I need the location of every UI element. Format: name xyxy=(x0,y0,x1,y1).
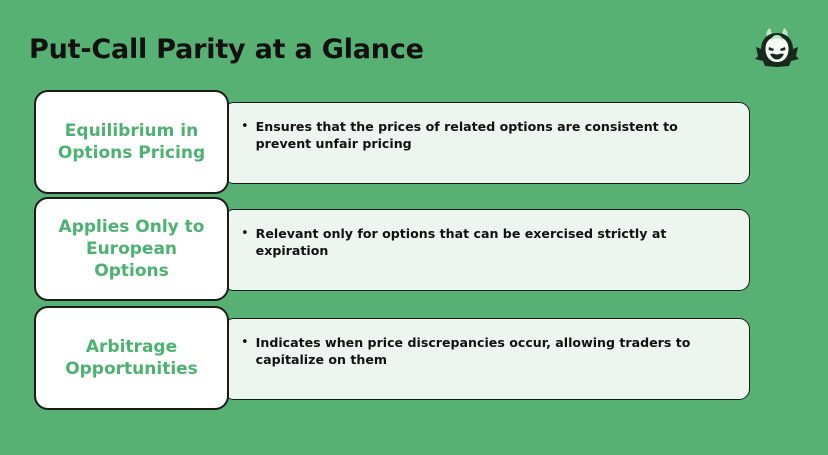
card-title-label: Arbitrage Opportunities xyxy=(46,336,217,380)
bullet-text: Ensures that the prices of related optio… xyxy=(256,118,735,152)
list-item: • Ensures that the prices of related opt… xyxy=(0,90,828,194)
samurai-mask-logo-icon xyxy=(753,26,801,72)
bullet-text: Indicates when price discrepancies occur… xyxy=(256,334,735,368)
bullet-icon: • xyxy=(241,225,249,242)
list-item: • Indicates when price discrepancies occ… xyxy=(0,306,828,410)
card-title-box[interactable]: Applies Only to European Options xyxy=(34,197,229,301)
list-item: • Relevant only for options that can be … xyxy=(0,197,828,301)
bullet-text: Relevant only for options that can be ex… xyxy=(256,225,735,259)
bullet-row: • Indicates when price discrepancies occ… xyxy=(241,334,735,368)
bullet-icon: • xyxy=(241,118,249,135)
card-title-label: Applies Only to European Options xyxy=(46,216,217,282)
card-title-box[interactable]: Equilibrium in Options Pricing xyxy=(34,90,229,194)
card-description-panel: • Indicates when price discrepancies occ… xyxy=(223,318,750,400)
card-title-box[interactable]: Arbitrage Opportunities xyxy=(34,306,229,410)
card-title-label: Equilibrium in Options Pricing xyxy=(46,120,217,164)
page-title: Put-Call Parity at a Glance xyxy=(29,34,424,65)
slide-canvas: Put-Call Parity at a Glance • Ensures th… xyxy=(0,0,828,455)
bullet-row: • Ensures that the prices of related opt… xyxy=(241,118,735,152)
card-description-panel: • Ensures that the prices of related opt… xyxy=(223,102,750,184)
bullet-icon: • xyxy=(241,334,249,351)
bullet-row: • Relevant only for options that can be … xyxy=(241,225,735,259)
card-description-panel: • Relevant only for options that can be … xyxy=(223,209,750,291)
